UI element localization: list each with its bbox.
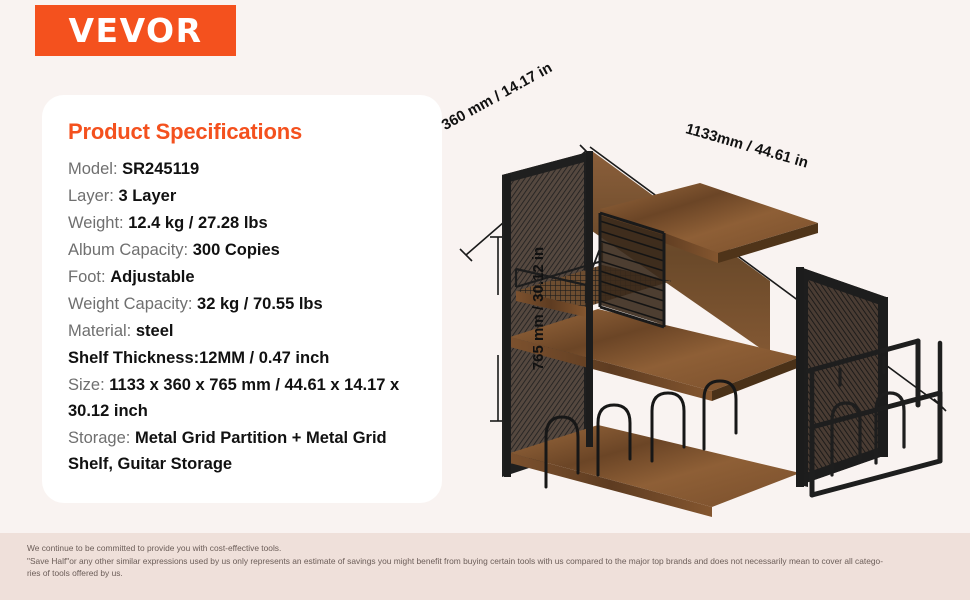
footer-line-2: "Save Half"or any other similar expressi… xyxy=(27,555,948,568)
spec-row: Weight: 12.4 kg / 27.28 lbs xyxy=(68,210,420,236)
spec-row-label: Material: xyxy=(68,322,131,340)
spec-row-value: 300 Copies xyxy=(193,241,280,259)
spec-row-label: Storage: xyxy=(68,429,130,447)
spec-row: Storage: Metal Grid Partition + Metal Gr… xyxy=(68,425,420,477)
spec-row-value: 1133 x 360 x 765 mm / 44.61 x 14.17 x 30… xyxy=(68,376,399,420)
dimension-label-height: 765 mm / 30.12 in xyxy=(530,247,547,370)
spec-card-title: Product Specifications xyxy=(68,119,420,145)
spec-row-label: Shelf Thickness:12MM / 0.47 inch xyxy=(68,349,329,367)
product-specifications-card: Product Specifications Model: SR245119La… xyxy=(42,95,442,503)
spec-row-label: Weight Capacity: xyxy=(68,295,192,313)
spec-row: Material: steel xyxy=(68,318,420,344)
spec-row-label: Weight: xyxy=(68,214,124,232)
spec-row-value: steel xyxy=(136,322,174,340)
spec-row-label: Size: xyxy=(68,376,105,394)
spec-row: Album Capacity: 300 Copies xyxy=(68,237,420,263)
spec-row-value: Adjustable xyxy=(110,268,194,286)
spec-row-value: 12.4 kg / 27.28 lbs xyxy=(128,214,267,232)
footer-line-1: We continue to be committed to provide y… xyxy=(27,542,948,555)
spec-row-value: SR245119 xyxy=(122,160,199,178)
metal-grid-partition xyxy=(600,213,664,327)
product-spec-page: VEVOR Product Specifications Model: SR24… xyxy=(0,0,970,600)
spec-row: Model: SR245119 xyxy=(68,156,420,182)
spec-row: Shelf Thickness:12MM / 0.47 inch xyxy=(68,345,420,371)
spec-row-label: Album Capacity: xyxy=(68,241,188,259)
footer-disclaimer: We continue to be committed to provide y… xyxy=(0,533,970,600)
vevor-logo-text: VEVOR xyxy=(68,14,202,47)
footer-line-3: ries of tools offered by us. xyxy=(27,567,948,580)
spec-list: Model: SR245119Layer: 3 LayerWeight: 12.… xyxy=(68,156,420,477)
spec-row: Weight Capacity: 32 kg / 70.55 lbs xyxy=(68,291,420,317)
spec-row: Size: 1133 x 360 x 765 mm / 44.61 x 14.1… xyxy=(68,372,420,424)
cabinet-structure xyxy=(502,151,888,517)
spec-row: Layer: 3 Layer xyxy=(68,183,420,209)
spec-row-label: Layer: xyxy=(68,187,114,205)
spec-row-label: Model: xyxy=(68,160,118,178)
spec-row: Foot: Adjustable xyxy=(68,264,420,290)
spec-row-value: 3 Layer xyxy=(118,187,176,205)
vevor-logo: VEVOR xyxy=(35,5,236,56)
spec-row-value: 32 kg / 70.55 lbs xyxy=(197,295,323,313)
spec-row-label: Foot: xyxy=(68,268,106,286)
